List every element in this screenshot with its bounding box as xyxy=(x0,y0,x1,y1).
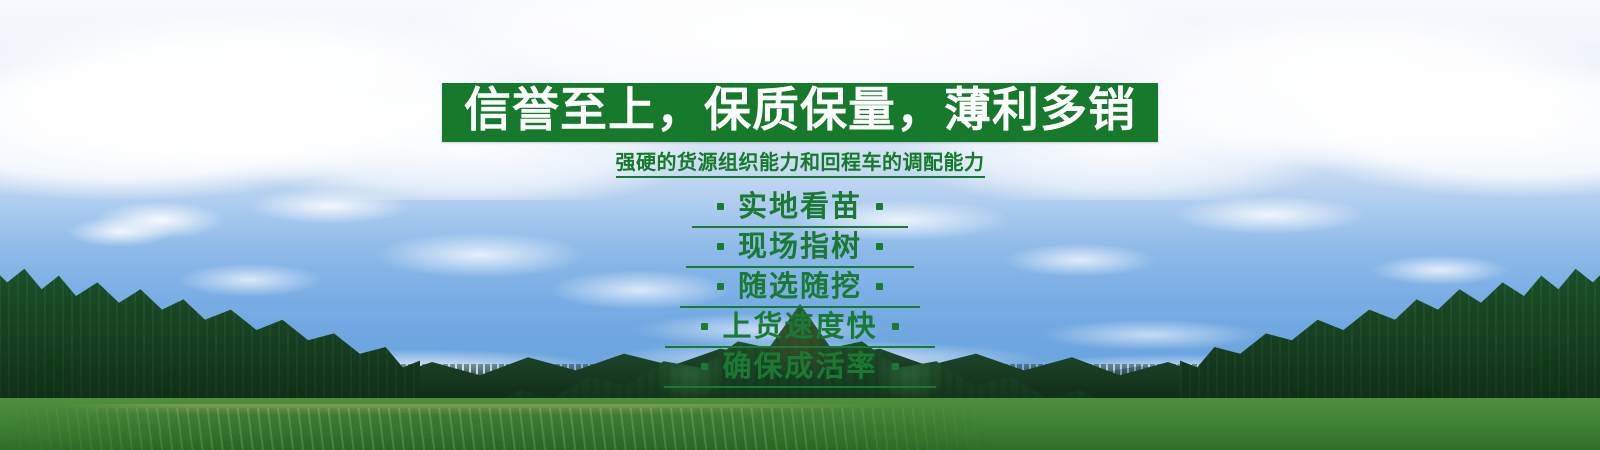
bullet-dot-icon xyxy=(876,203,883,210)
bullet-dot-icon xyxy=(892,323,899,330)
feature-label: 上货速度快 xyxy=(722,310,877,343)
banner-title: 信誉至上，保质保量，薄利多销 xyxy=(464,87,1136,134)
bullet-dot-icon xyxy=(717,243,724,250)
feature-item: 实地看苗 xyxy=(692,188,908,228)
feature-label: 确保成活率 xyxy=(722,350,877,383)
feature-item: 上货速度快 xyxy=(665,308,935,348)
feature-label: 随选随挖 xyxy=(738,270,862,303)
feature-label: 实地看苗 xyxy=(738,190,862,223)
bullet-dot-icon xyxy=(876,243,883,250)
feature-item: 确保成活率 xyxy=(664,348,936,388)
banner-subtitle: 强硬的货源组织能力和回程车的调配能力 xyxy=(616,151,985,178)
bullet-dot-icon xyxy=(876,283,883,290)
bullet-dot-icon xyxy=(701,363,708,370)
feature-list: 实地看苗 现场指树 随选随挖 上货速度快 确保成活率 xyxy=(664,188,936,388)
bullet-dot-icon xyxy=(717,203,724,210)
bullet-dot-icon xyxy=(717,283,724,290)
feature-item: 随选随挖 xyxy=(680,268,920,308)
bullet-dot-icon xyxy=(892,363,899,370)
banner-content: 信誉至上，保质保量，薄利多销 强硬的货源组织能力和回程车的调配能力 实地看苗 现… xyxy=(0,0,1600,450)
feature-label: 现场指树 xyxy=(738,230,862,263)
bullet-dot-icon xyxy=(701,323,708,330)
title-banner: 信誉至上，保质保量，薄利多销 xyxy=(442,83,1158,142)
feature-item: 现场指树 xyxy=(686,228,914,268)
promo-banner: 信誉至上，保质保量，薄利多销 强硬的货源组织能力和回程车的调配能力 实地看苗 现… xyxy=(0,0,1600,450)
